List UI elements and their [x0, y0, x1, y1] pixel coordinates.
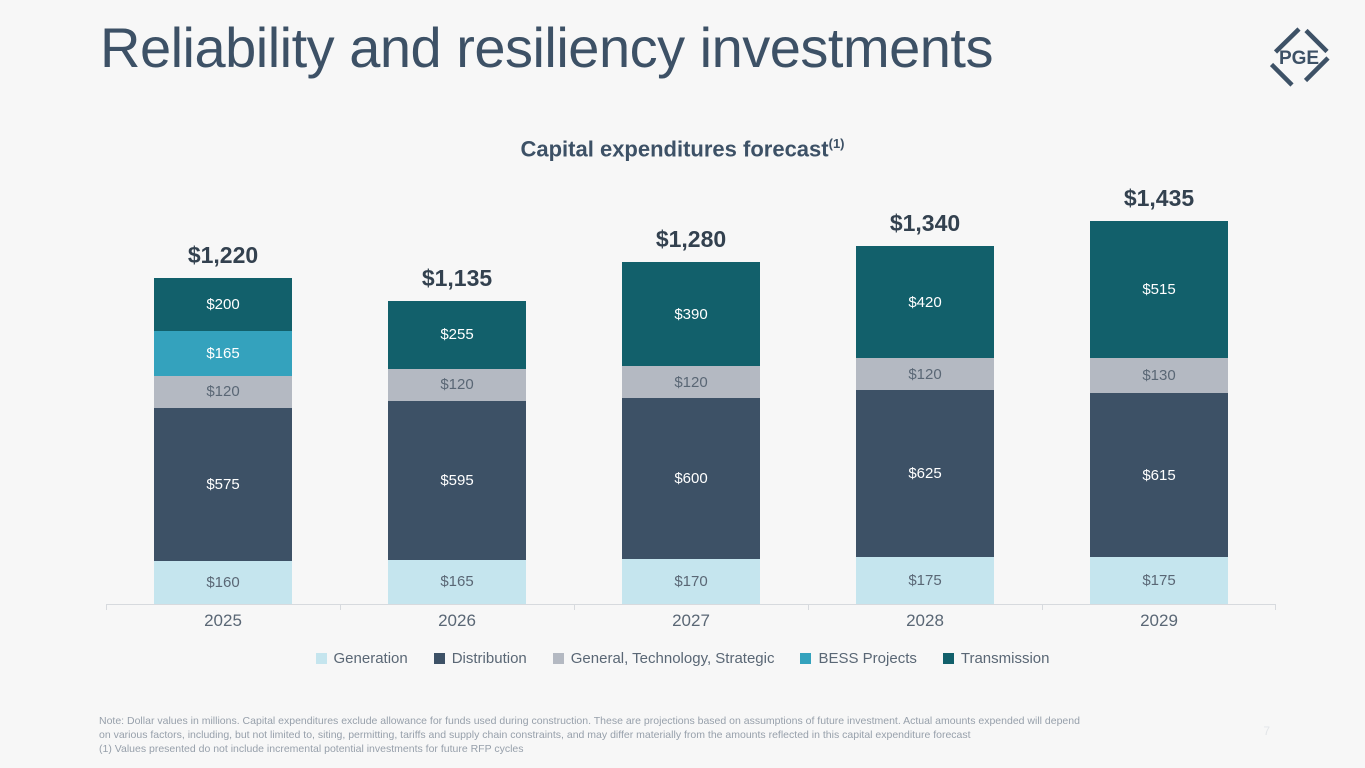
bar-segment-value: $170 [674, 574, 707, 589]
x-axis-line [106, 604, 1276, 605]
bar-segment[interactable]: $130 [1090, 358, 1228, 393]
footnote-line-1: Note: Dollar values in millions. Capital… [99, 715, 1209, 729]
bar-segment-value: $165 [206, 346, 239, 361]
slide: Reliability and resiliency investments P… [0, 0, 1365, 768]
pge-logo-text: PGE [1279, 48, 1319, 69]
x-axis-label-2028: 2028 [856, 611, 994, 631]
legend-swatch-icon [316, 653, 327, 664]
x-axis-label-2027: 2027 [622, 611, 760, 631]
bar-total-label: $1,280 [622, 226, 760, 253]
bar-group-2027[interactable]: $170$600$120$390$1,280 [622, 262, 760, 604]
chart-title: Capital expenditures forecast(1) [0, 136, 1365, 162]
x-axis-tick [340, 605, 341, 610]
bar-segment-value: $200 [206, 297, 239, 312]
footnote-line-2: on various factors, including, but not l… [99, 729, 1209, 743]
bar-segment[interactable]: $165 [388, 560, 526, 604]
x-axis-label-2026: 2026 [388, 611, 526, 631]
legend-swatch-icon [553, 653, 564, 664]
legend-item[interactable]: BESS Projects [800, 650, 916, 667]
bar-group-2029[interactable]: $175$615$130$515$1,435 [1090, 221, 1228, 604]
bar-segment-value: $420 [908, 295, 941, 310]
chart-title-footnote-marker: (1) [829, 136, 845, 151]
pge-logo: PGE [1261, 20, 1337, 96]
x-axis-tick [1275, 605, 1276, 610]
legend-item[interactable]: Generation [316, 650, 408, 667]
bar-segment-value: $160 [206, 575, 239, 590]
bar-segment-value: $120 [674, 375, 707, 390]
x-axis-label-2025: 2025 [154, 611, 292, 631]
bar-total-label: $1,135 [388, 265, 526, 292]
bar-segment[interactable]: $390 [622, 262, 760, 366]
bar-segment[interactable]: $120 [388, 369, 526, 401]
legend-label: BESS Projects [818, 650, 916, 667]
legend-label: Distribution [452, 650, 527, 667]
chart-legend: GenerationDistributionGeneral, Technolog… [0, 650, 1365, 667]
stacked-bar[interactable]: $175$615$130$515 [1090, 221, 1228, 604]
bar-group-2025[interactable]: $160$575$120$165$200$1,220 [154, 278, 292, 604]
chart-plot-area: $160$575$120$165$200$1,220$165$595$120$2… [106, 180, 1276, 605]
bar-segment-value: $595 [440, 473, 473, 488]
bar-group-2026[interactable]: $165$595$120$255$1,135 [388, 301, 526, 604]
x-axis-tick [808, 605, 809, 610]
bar-segment-value: $575 [206, 477, 239, 492]
footnote-line-3: (1) Values presented do not include incr… [99, 743, 1209, 757]
bar-total-label: $1,435 [1090, 185, 1228, 212]
page-title: Reliability and resiliency investments [100, 16, 993, 80]
bar-segment-value: $165 [440, 574, 473, 589]
bar-total-label: $1,220 [154, 242, 292, 269]
bar-segment-value: $175 [1142, 573, 1175, 588]
bar-segment-value: $255 [440, 327, 473, 342]
legend-swatch-icon [800, 653, 811, 664]
bar-segment[interactable]: $615 [1090, 393, 1228, 557]
bar-segment[interactable]: $575 [154, 408, 292, 562]
bar-segment-value: $625 [908, 466, 941, 481]
bar-segment[interactable]: $120 [856, 358, 994, 390]
bar-segment-value: $515 [1142, 282, 1175, 297]
bar-segment[interactable]: $175 [1090, 557, 1228, 604]
legend-swatch-icon [943, 653, 954, 664]
legend-item[interactable]: Transmission [943, 650, 1050, 667]
bar-segment-value: $120 [206, 384, 239, 399]
bar-segment-value: $120 [440, 377, 473, 392]
bar-segment-value: $390 [674, 307, 707, 322]
bar-segment-value: $615 [1142, 468, 1175, 483]
bar-segment[interactable]: $175 [856, 557, 994, 604]
bar-segment-value: $130 [1142, 368, 1175, 383]
bar-segment[interactable]: $200 [154, 278, 292, 331]
page-number: 7 [1263, 724, 1270, 738]
x-axis-tick [1042, 605, 1043, 610]
bar-segment[interactable]: $255 [388, 301, 526, 369]
bar-segment[interactable]: $120 [154, 376, 292, 408]
bar-segment[interactable]: $595 [388, 401, 526, 560]
legend-item[interactable]: Distribution [434, 650, 527, 667]
x-axis-labels: 20252026202720282029 [106, 611, 1276, 639]
x-axis-label-2029: 2029 [1090, 611, 1228, 631]
legend-item[interactable]: General, Technology, Strategic [553, 650, 775, 667]
bar-segment[interactable]: $625 [856, 390, 994, 557]
bar-segment[interactable]: $600 [622, 398, 760, 558]
stacked-bar[interactable]: $165$595$120$255 [388, 301, 526, 604]
bar-group-2028[interactable]: $175$625$120$420$1,340 [856, 246, 994, 604]
stacked-bar[interactable]: $175$625$120$420 [856, 246, 994, 604]
legend-swatch-icon [434, 653, 445, 664]
stacked-bar[interactable]: $160$575$120$165$200 [154, 278, 292, 604]
bar-segment[interactable]: $160 [154, 561, 292, 604]
bar-segment[interactable]: $165 [154, 331, 292, 375]
bar-segment-value: $175 [908, 573, 941, 588]
footnote: Note: Dollar values in millions. Capital… [99, 715, 1209, 757]
bar-segment[interactable]: $170 [622, 559, 760, 604]
bar-segment-value: $120 [908, 367, 941, 382]
x-axis-tick [574, 605, 575, 610]
chart-title-text: Capital expenditures forecast [521, 136, 829, 161]
bar-segment[interactable]: $420 [856, 246, 994, 358]
bar-segment-value: $600 [674, 471, 707, 486]
bar-segment[interactable]: $120 [622, 366, 760, 398]
legend-label: Generation [334, 650, 408, 667]
legend-label: General, Technology, Strategic [571, 650, 775, 667]
bar-total-label: $1,340 [856, 210, 994, 237]
bar-segment[interactable]: $515 [1090, 221, 1228, 359]
stacked-bar[interactable]: $170$600$120$390 [622, 262, 760, 604]
legend-label: Transmission [961, 650, 1050, 667]
x-axis-tick [106, 605, 107, 610]
